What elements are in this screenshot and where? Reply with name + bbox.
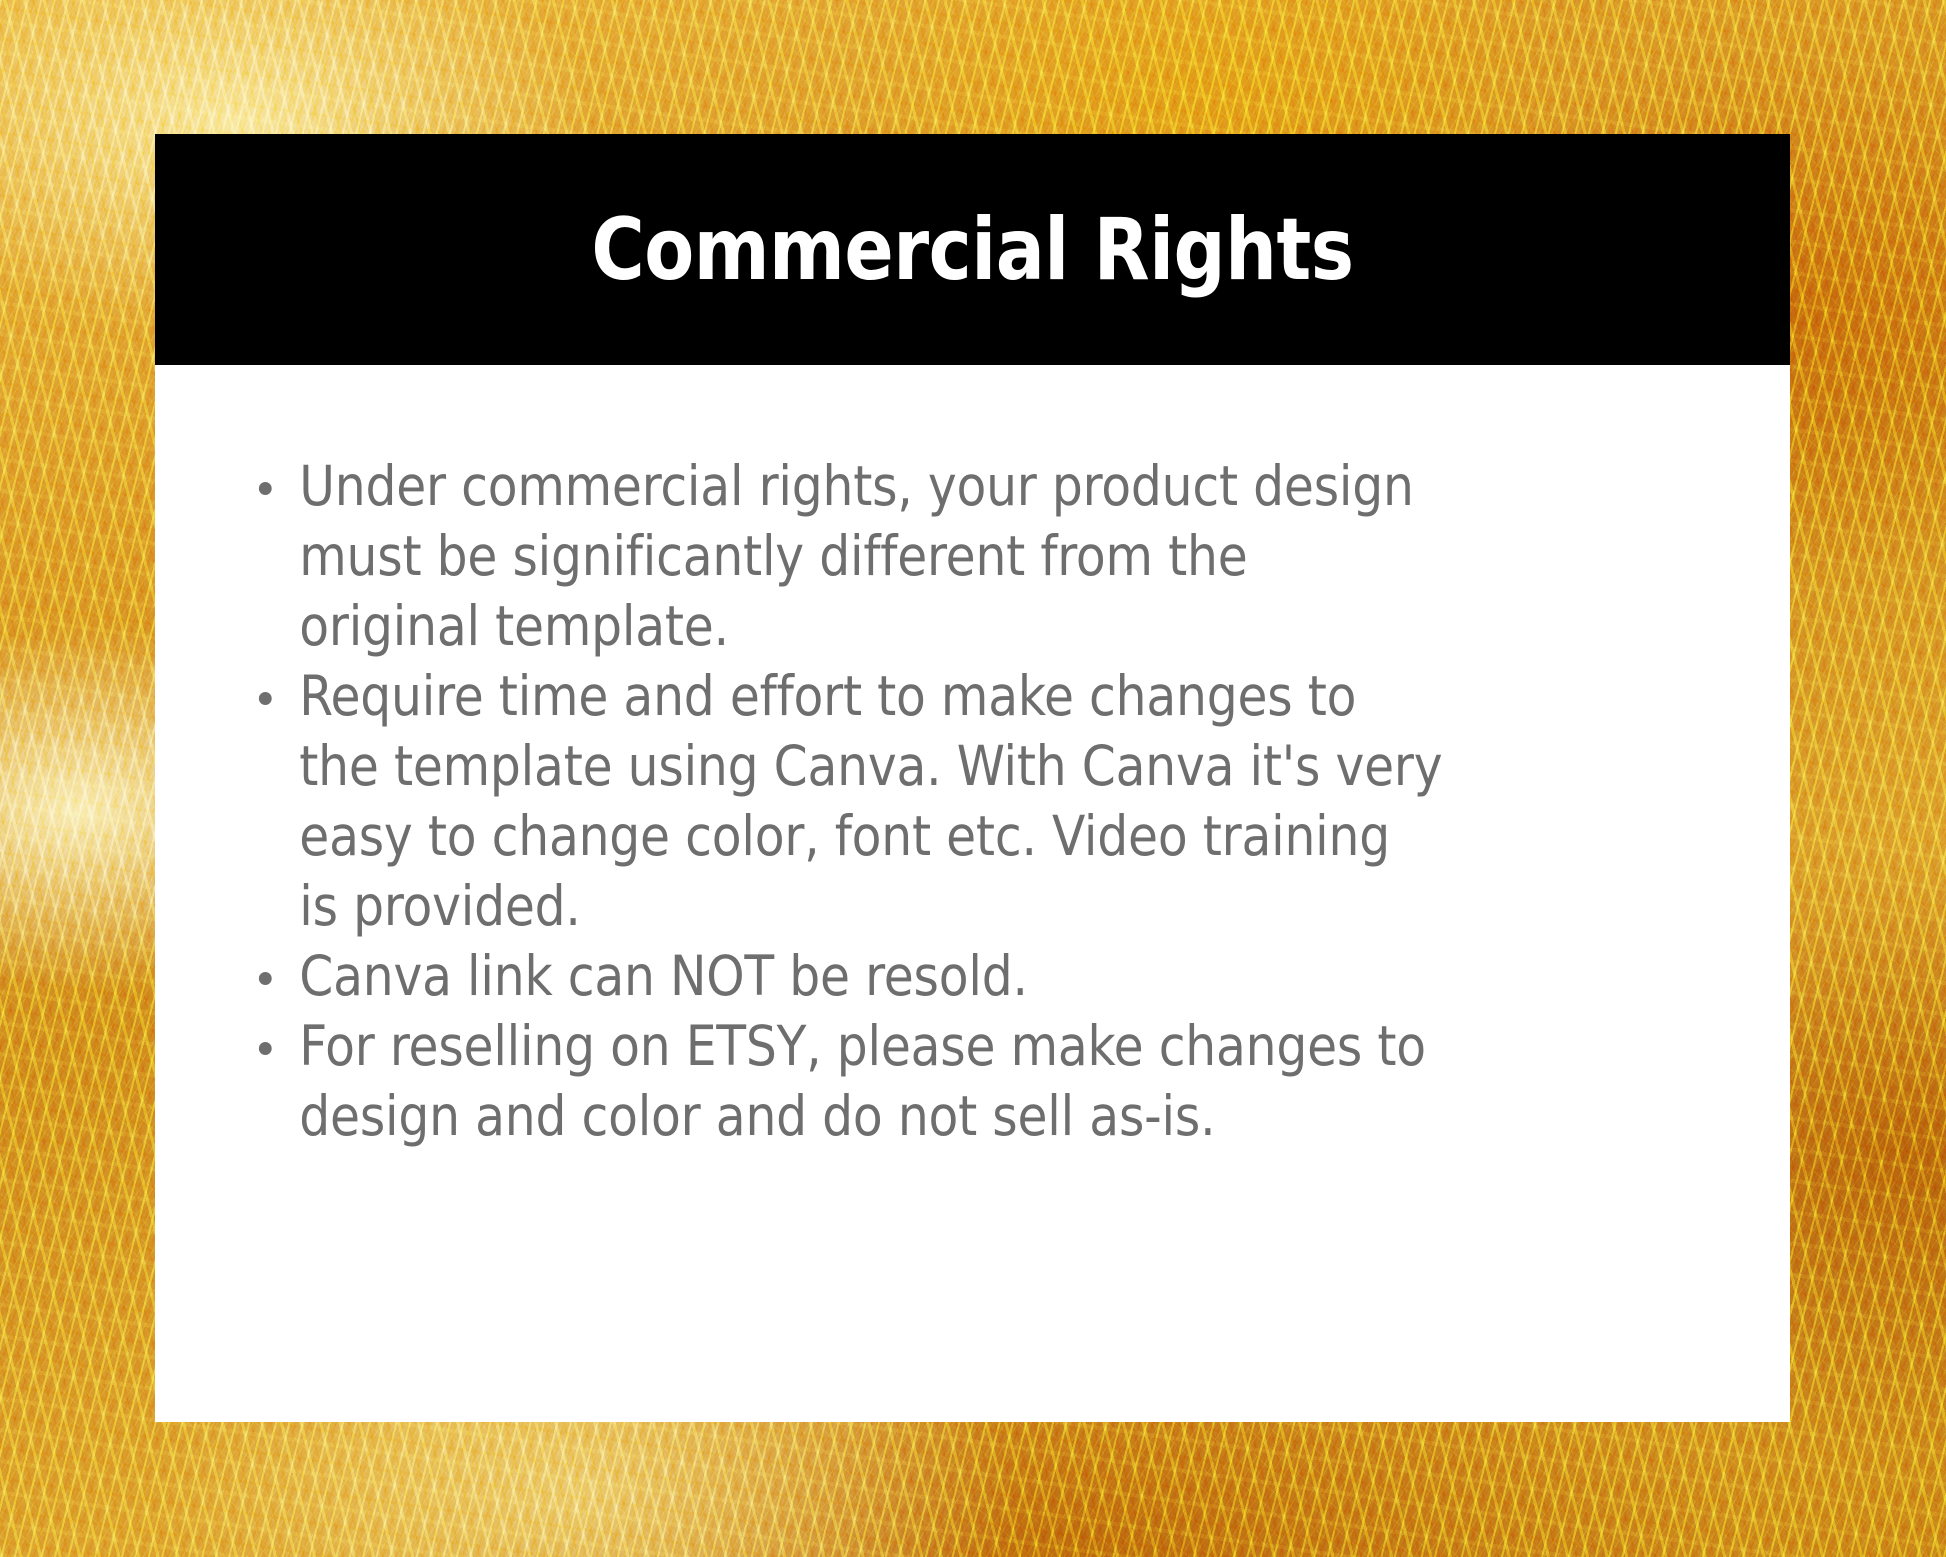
list-item-text: For reselling on ETSY, please make chang… [299,1014,1426,1148]
list-item-text: Under commercial rights, your product de… [299,454,1413,658]
list-item: For reselling on ETSY, please make chang… [251,1011,1443,1151]
bullet-dot-icon [259,972,272,985]
card-header-bar: Commercial Rights [155,134,1790,365]
list-item: Require time and effort to make changes … [251,661,1443,941]
list-item-text: Require time and effort to make changes … [299,664,1442,938]
bullet-list: Under commercial rights, your product de… [251,451,1694,1151]
content-card: Commercial Rights Under commercial right… [155,134,1790,1422]
list-item: Canva link can NOT be resold. [251,941,1443,1011]
card-body: Under commercial rights, your product de… [155,365,1790,1422]
bullet-dot-icon [259,482,272,495]
bullet-dot-icon [259,1042,272,1055]
list-item-text: Canva link can NOT be resold. [299,944,1027,1008]
list-item: Under commercial rights, your product de… [251,451,1443,661]
bullet-dot-icon [259,692,272,705]
page-title: Commercial Rights [591,207,1353,293]
